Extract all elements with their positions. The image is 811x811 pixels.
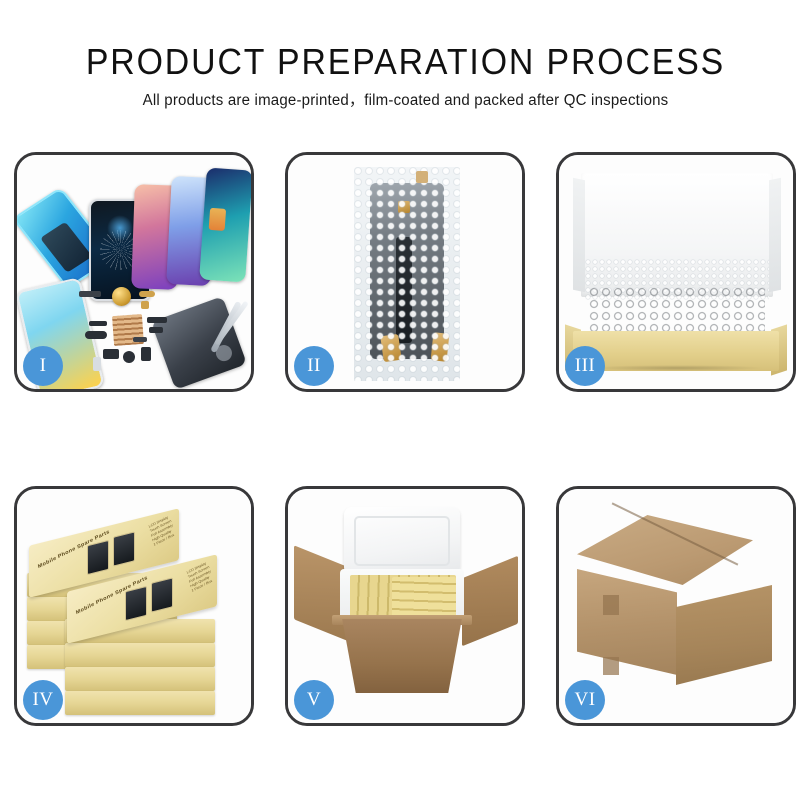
process-step-5: V [285, 486, 525, 726]
process-grid: I II [14, 152, 797, 726]
carton-front [334, 619, 470, 693]
box-spec: LCD Display Touch Screen Full Assembly H… [186, 560, 214, 593]
box-artwork [87, 540, 109, 575]
box-artwork [113, 531, 135, 566]
small-part [85, 331, 107, 339]
small-part [93, 357, 101, 371]
small-part [133, 337, 147, 342]
product-preparation-infographic: PRODUCT PREPARATION PROCESS All products… [0, 0, 811, 811]
process-step-2: II [285, 152, 525, 392]
small-part [141, 301, 149, 309]
small-part [123, 351, 135, 363]
box-artwork [151, 577, 173, 612]
step-badge-2: II [294, 346, 334, 386]
box-artwork [125, 586, 147, 621]
step-badge-6: VI [565, 680, 605, 720]
bubble-wrap-bag [354, 167, 460, 381]
bubble-wrap-layer [589, 287, 765, 337]
page-subtitle: All products are image-printed，film-coat… [12, 90, 799, 112]
gold-coil-part [112, 287, 131, 306]
carton-flap-right [462, 556, 518, 647]
foam-lid [344, 507, 460, 575]
carton-top-face [577, 515, 753, 585]
carton-left-face [577, 569, 677, 675]
box-spec: LCD Display Touch Screen Full Assembly H… [148, 514, 176, 547]
step-badge-4: IV [23, 680, 63, 720]
process-step-6: VI [556, 486, 796, 726]
step-badge-1: I [23, 346, 63, 386]
box-stack: Mobile Phone Spare Parts LCD Display Tou… [25, 509, 247, 705]
small-part [103, 349, 119, 359]
process-step-3: III [556, 152, 796, 392]
drop-shadow [589, 365, 765, 371]
bubble-texture [354, 167, 460, 381]
stacked-box [65, 691, 215, 715]
small-part [149, 327, 163, 333]
small-part [139, 291, 155, 297]
step-badge-3: III [565, 346, 605, 386]
tape-piece [416, 171, 428, 183]
stacked-box [65, 643, 215, 667]
step-badge-5: V [294, 680, 334, 720]
small-part [89, 321, 107, 326]
carton-tape-mark [603, 595, 619, 615]
yellow-boxes-row [392, 577, 456, 617]
page-title: PRODUCT PREPARATION PROCESS [24, 40, 786, 84]
process-step-4: Mobile Phone Spare Parts LCD Display Tou… [14, 486, 254, 726]
header: PRODUCT PREPARATION PROCESS All products… [0, 40, 811, 112]
small-part [79, 291, 101, 297]
stacked-box [65, 667, 215, 691]
carton-right-face [676, 585, 772, 685]
phone-screen-teal [199, 168, 253, 283]
small-part [147, 317, 167, 323]
process-step-1: I [14, 152, 254, 392]
carton-tape-mark [603, 657, 619, 675]
small-part [141, 347, 151, 361]
